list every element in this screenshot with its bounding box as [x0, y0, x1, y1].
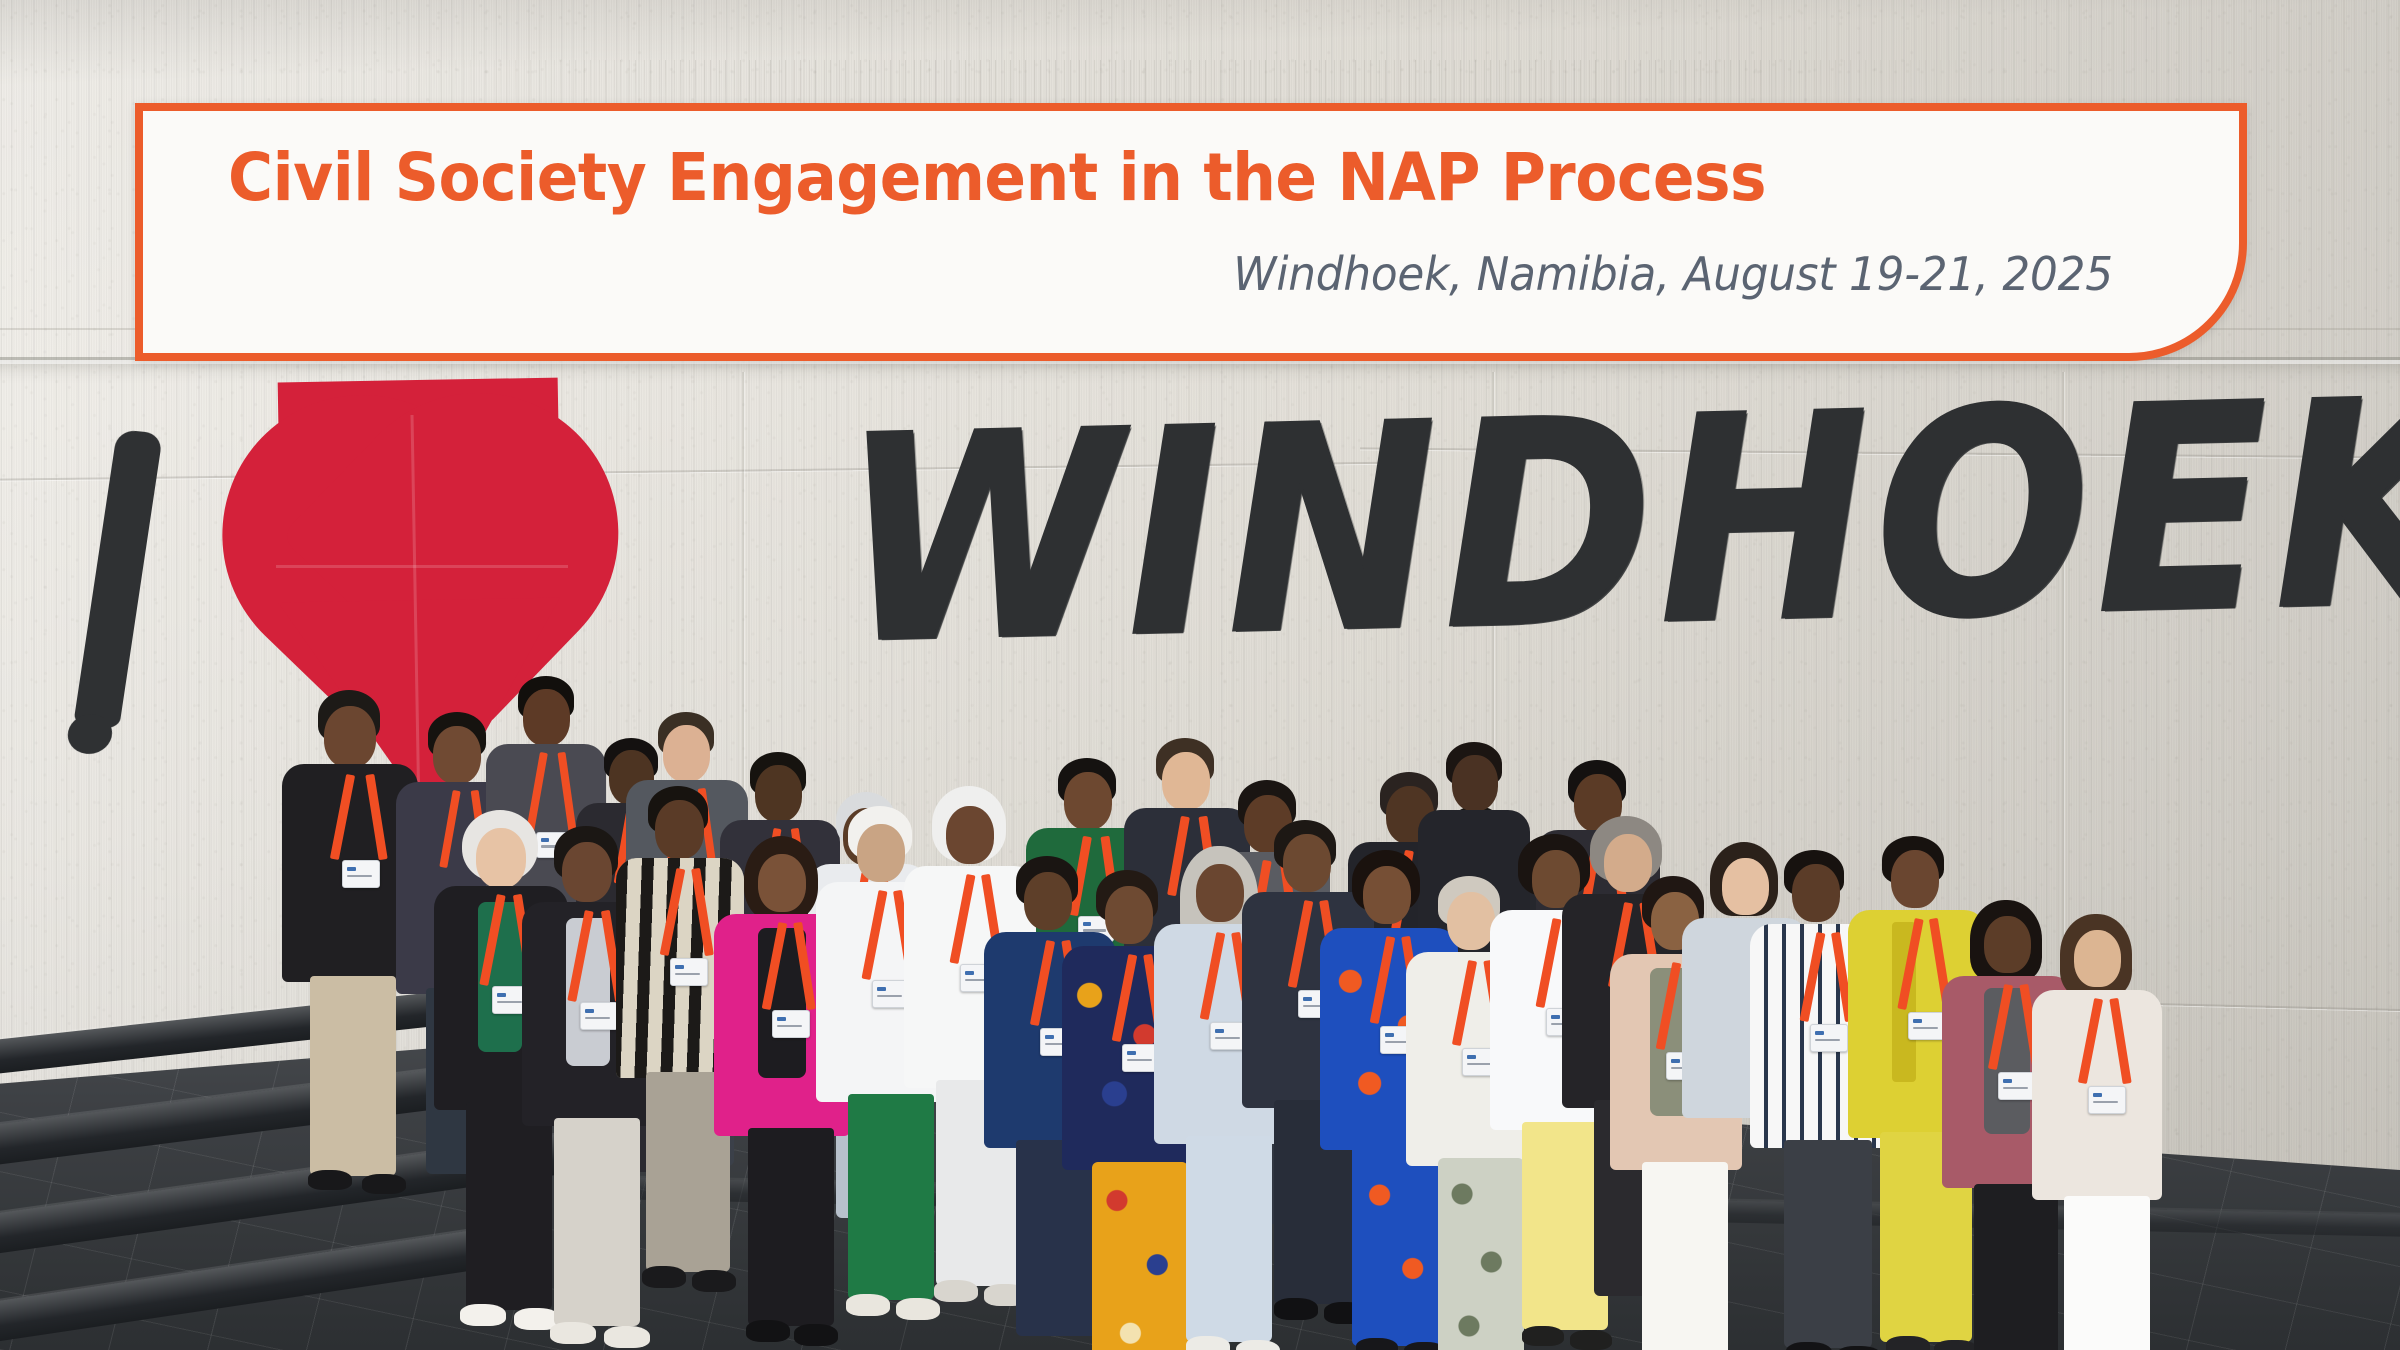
- title-banner: Civil Society Engagement in the NAP Proc…: [135, 103, 2247, 361]
- poster-canvas: WINDHOEK: [0, 0, 2400, 1350]
- event-location-date: Windhoek, Namibia, August 19-21, 2025: [1233, 247, 2113, 301]
- page-title: Civil Society Engagement in the NAP Proc…: [228, 139, 1766, 216]
